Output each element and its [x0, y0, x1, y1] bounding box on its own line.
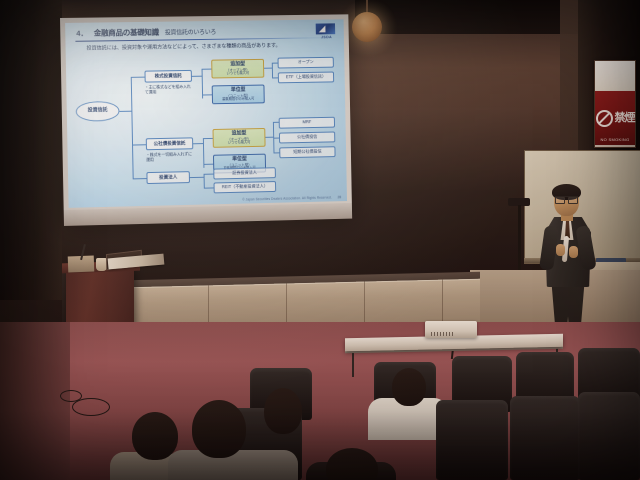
diagram-leaf-etf: ETF（上場投資信託）: [278, 72, 334, 84]
slide-title-number: 4．: [76, 28, 88, 39]
projector: [425, 321, 477, 338]
slide-title-subtitle: 投資信託のいろいろ: [165, 27, 216, 37]
connector: [204, 188, 214, 189]
connector: [265, 137, 273, 138]
table-leg: [352, 349, 354, 377]
slide-copyright: © Japan Securities Dealers Association. …: [242, 195, 332, 201]
connector: [202, 69, 212, 70]
jsda-logo: JSDA: [316, 23, 338, 39]
floor-left-shadow: [0, 322, 70, 480]
connector: [204, 174, 205, 189]
connector: [202, 94, 212, 95]
diagram-category-bond: 公社債投資信託: [146, 137, 194, 150]
no-smoking-icon: [596, 110, 613, 127]
type-detail-label: いつでも購入可: [227, 72, 250, 76]
connector: [133, 178, 147, 179]
floor-cable: [60, 390, 82, 402]
seat: [578, 392, 640, 480]
sign-kanji-label: 禁煙: [615, 113, 635, 124]
connector: [132, 144, 146, 145]
diagram-category-equity: 株式投資信託: [144, 70, 192, 83]
sign-blank-top: [595, 61, 635, 91]
diagram-leaf-reit: REIT（不動産投資法人）: [214, 181, 277, 193]
diagram-leaf-open: オープン: [278, 57, 334, 69]
diagram-leaf-securities-corp: 証券投資法人: [213, 167, 276, 179]
diagram-leaf-short-bond-fund: 短期公社債投信: [279, 146, 335, 158]
seat: [436, 400, 508, 480]
audience-head: [132, 412, 178, 460]
connector: [192, 76, 202, 77]
jsda-logo-text: JSDA: [316, 35, 337, 39]
slide-page-number: 28: [337, 195, 341, 199]
jsda-logo-mark: [316, 23, 336, 34]
glasses-icon: [555, 196, 578, 202]
audience-head: [264, 388, 302, 434]
investment-trust-diagram: 投資信託 株式投資信託 ・主に株式などを組み入れて運用 公社債投資信託 ・株式を…: [73, 50, 340, 194]
diagram-leaf-bond-fund: 公社債投信: [279, 132, 335, 144]
lecture-hall-photo: 禁煙 NO SMOKING JSDA 4． 金融商品の基礎知識 投資信託のいろい…: [0, 0, 640, 480]
projector-vent: [431, 332, 453, 336]
presenter-right-hand: [569, 246, 578, 258]
diagram-note-bond: ・株式を一切組み入れずに運用: [146, 152, 193, 163]
ceiling-lamp-icon: [352, 12, 382, 42]
presenter-left-hand: [556, 244, 565, 256]
diagram-category-corporation: 投資法人: [146, 171, 190, 184]
no-smoking-sign: 禁煙 NO SMOKING: [594, 60, 636, 148]
audience-head: [192, 400, 246, 458]
slide-content: JSDA 4． 金融商品の基礎知識 投資信託のいろいろ 投資信託には、投資対象や…: [65, 19, 347, 208]
projected-slide: JSDA 4． 金融商品の基礎知識 投資信託のいろいろ 投資信託には、投資対象や…: [65, 19, 347, 208]
diagram-note-equity: ・主に株式などを組み入れて運用: [145, 85, 192, 96]
diagram-type-open-2: 追加型 （オープン型） いつでも購入可: [213, 128, 266, 148]
left-wall: [0, 0, 62, 300]
audience-head: [392, 368, 426, 406]
connector: [190, 177, 204, 178]
sign-body: 禁煙 NO SMOKING: [595, 91, 635, 145]
sign-sub-label: NO SMOKING: [595, 137, 635, 142]
connector: [203, 164, 213, 165]
seat: [510, 396, 580, 480]
connector: [272, 63, 273, 79]
connector: [120, 111, 132, 112]
connector: [131, 77, 145, 78]
connector: [203, 138, 213, 139]
diagram-type-unit-1: 単位型 （ユニット型） 募集期間中のみ購入可: [212, 85, 265, 105]
connector: [131, 77, 134, 179]
stage-panel-seam: [442, 280, 443, 326]
diagram-type-open-1: 追加型 （オープン型） いつでも購入可: [211, 59, 264, 79]
projection-screen: JSDA 4． 金融商品の基礎知識 投資信託のいろいろ 投資信託には、投資対象や…: [60, 14, 352, 226]
slide-title-main: 金融商品の基礎知識: [94, 27, 159, 39]
connector: [264, 68, 272, 69]
stage-panel-seam: [364, 282, 365, 328]
diagram-root-node: 投資信託: [76, 101, 120, 122]
type-detail-label: 募集期間中のみ購入可: [222, 97, 254, 101]
connector: [204, 174, 214, 175]
diagram-leaf-mrf: MRF: [279, 117, 335, 129]
connector: [193, 143, 203, 144]
type-detail-label: いつでも購入可: [228, 141, 251, 145]
